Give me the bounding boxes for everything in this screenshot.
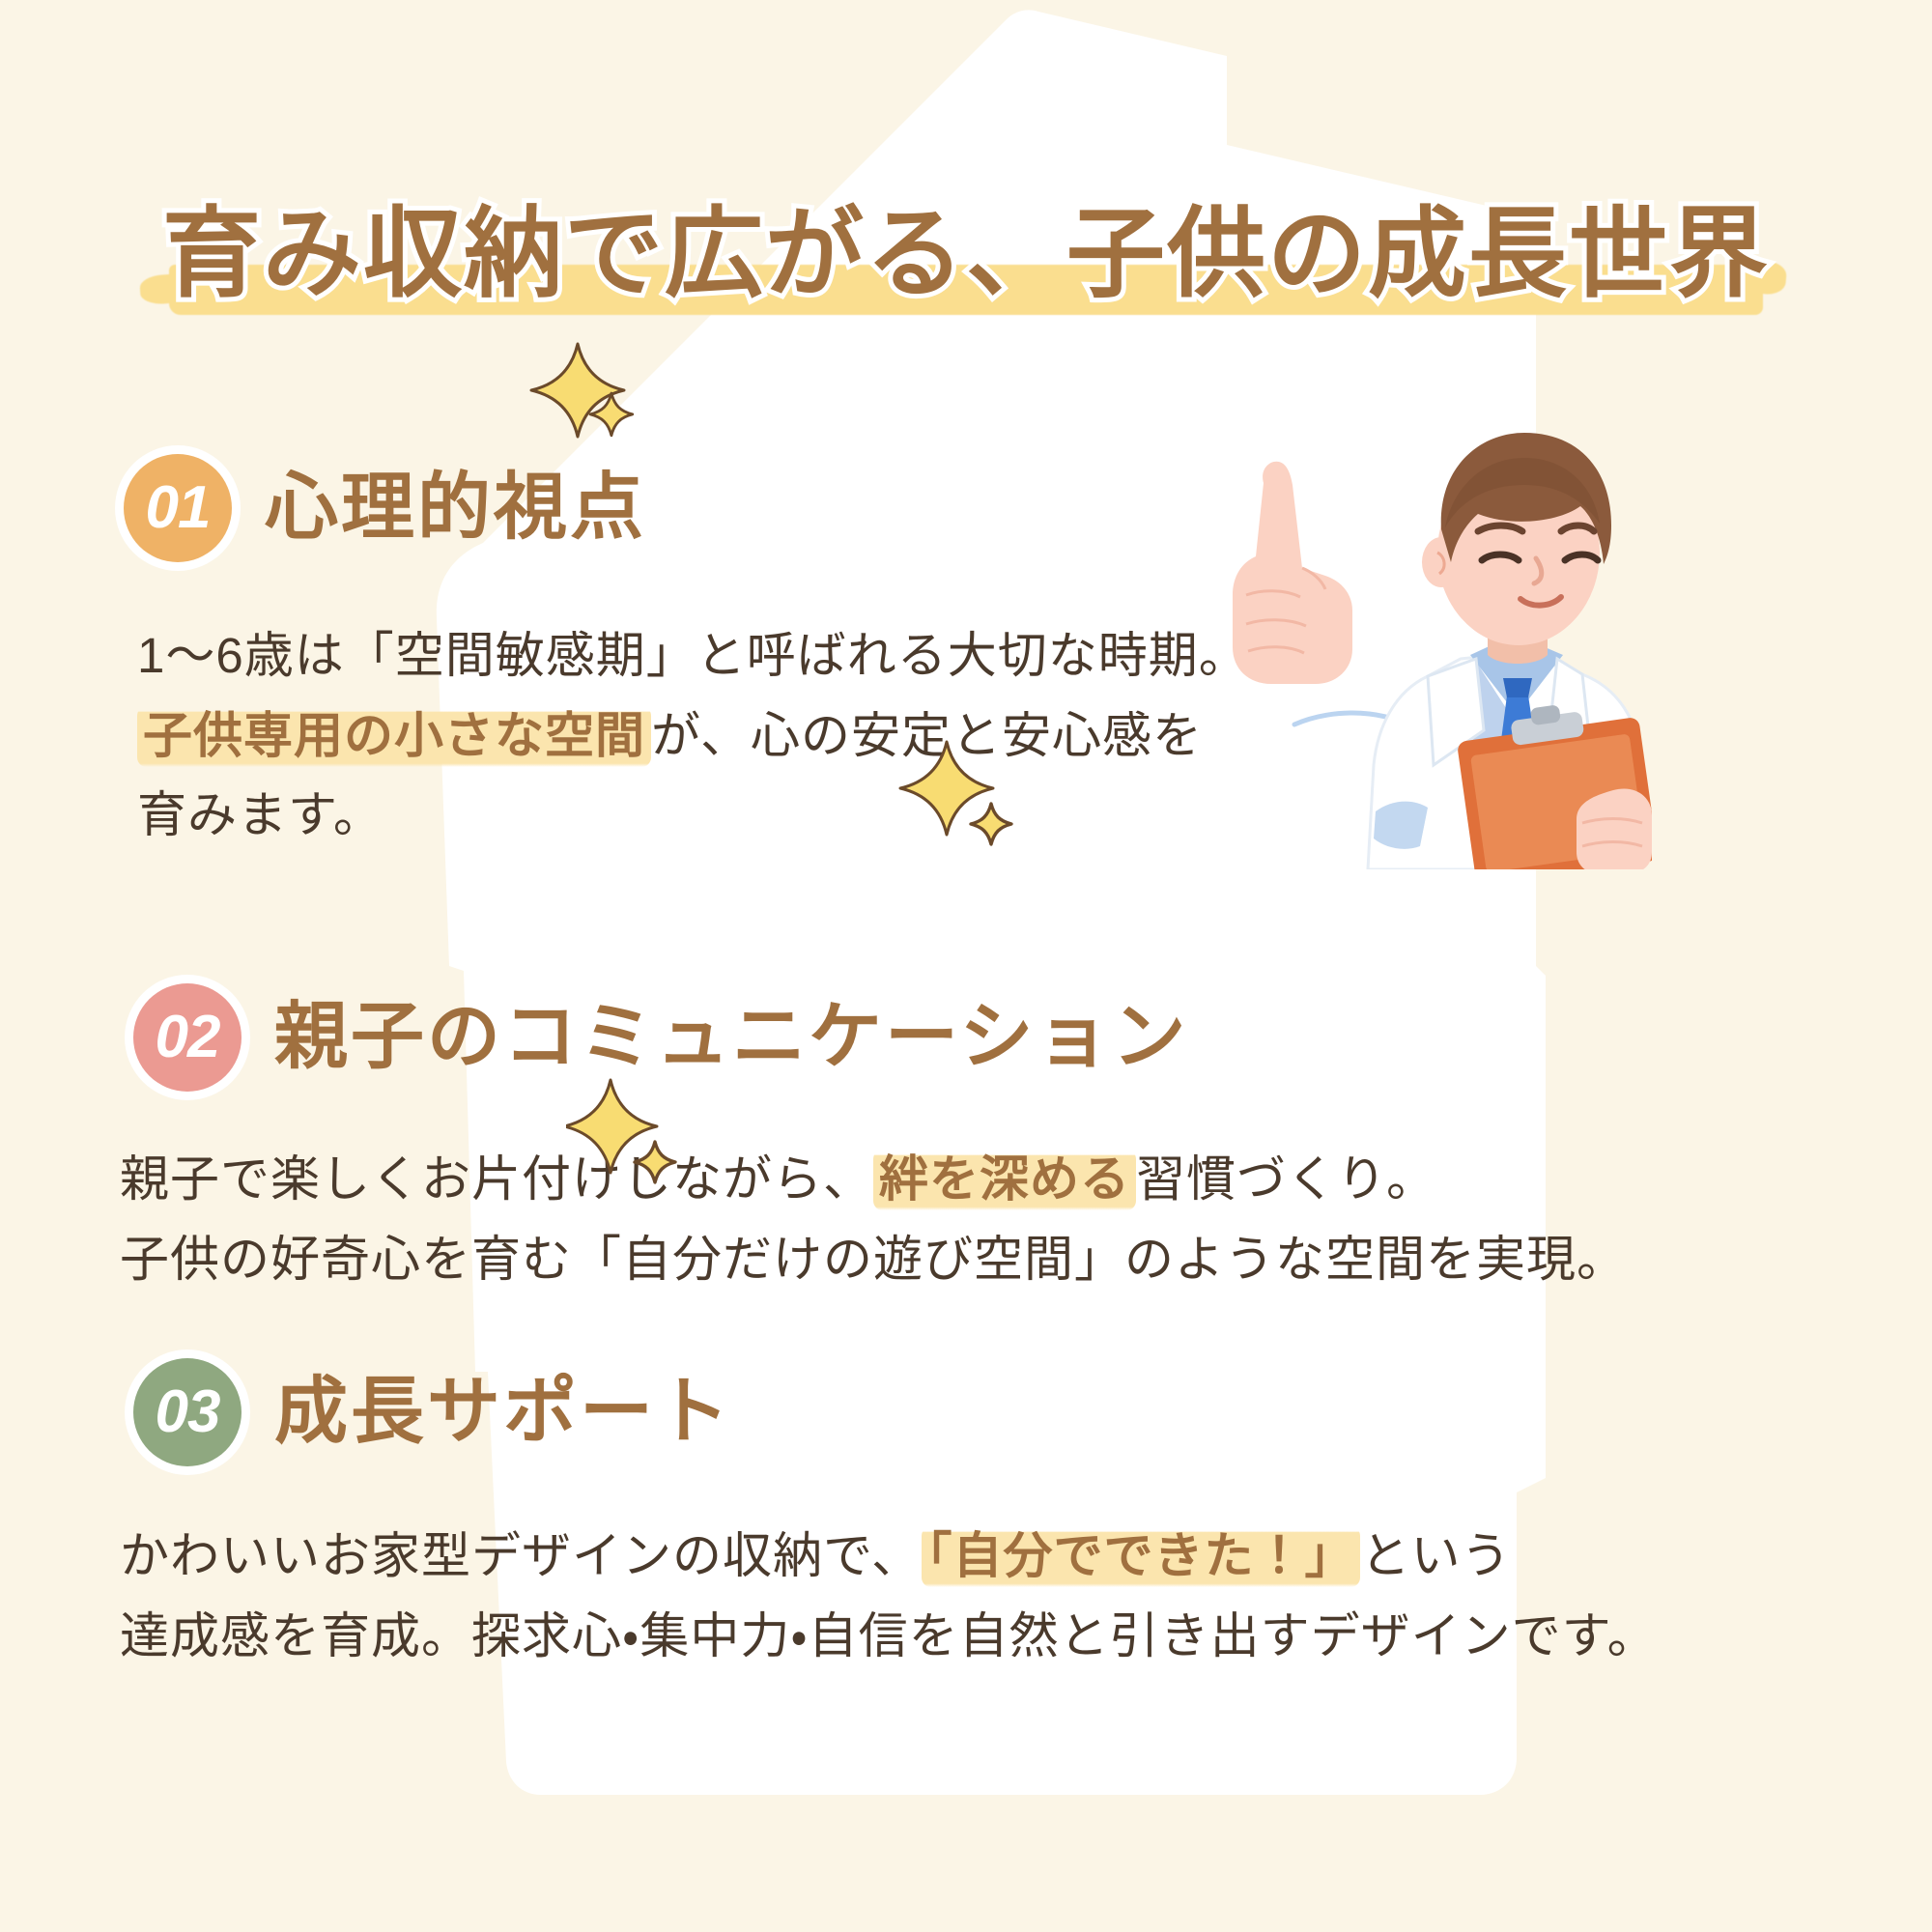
section-02-line-1: 親子で楽しくお片付けしながら、絆を深める習慣づくり。 (120, 1140, 1627, 1220)
section-01-header: 01 心理的視点 (124, 454, 1249, 562)
section-02-number: 02 (156, 1008, 220, 1067)
section-01: 01 心理的視点 1〜6歳は「空間敏感期」と呼ばれる大切な時期。 子供専用の小さ… (124, 454, 1249, 856)
section-01-badge: 01 (124, 454, 232, 562)
text-run: 育みます。 (137, 787, 384, 842)
section-02-line-2: 子供の好奇心を育む「自分だけの遊び空間」のような空間を実現。 (120, 1220, 1627, 1300)
section-03-number: 03 (156, 1382, 220, 1442)
highlight-run: 絆を深める (873, 1150, 1136, 1210)
section-03-header: 03 成長サポート (133, 1358, 1658, 1466)
section-02-header: 02 親子のコミュニケーション (133, 983, 1627, 1092)
text-run: かわいいお家型デザインの収納で、 (120, 1528, 922, 1583)
sparkle-01-icon (529, 336, 655, 462)
section-01-number: 01 (146, 478, 211, 538)
section-03-heading: 成長サポート (274, 1376, 732, 1449)
section-01-line-1: 1〜6歳は「空間敏感期」と呼ばれる大切な時期。 (137, 616, 1249, 696)
poster-root: 育み収納で広がる、子供の成長世界 01 心理的視点 1〜6歳は「空間敏感 (0, 0, 1932, 1932)
title-text: 育み収納で広がる、子供の成長世界 (162, 205, 1770, 303)
text-run: という (1360, 1528, 1511, 1583)
section-03: 03 成長サポート かわいいお家型デザインの収納で、「自分でできた！」という 達… (133, 1358, 1658, 1676)
text-run: 習慣づくり。 (1136, 1151, 1436, 1207)
section-03-line-2: 達成感を育成。探求心・集中力・自信を自然と引き出すデザインです。 (120, 1597, 1658, 1677)
highlight-run: 「自分でできた！」 (922, 1526, 1361, 1587)
poster-title: 育み収納で広がる、子供の成長世界 (0, 205, 1932, 303)
section-01-line-2: 子供専用の小さな空間が、心の安定と安心感を (137, 696, 1249, 777)
text-run: 達成感を育成。探求心・集中力・自信を自然と引き出すデザインです。 (120, 1608, 1658, 1663)
section-02-body: 親子で楽しくお片付けしながら、絆を深める習慣づくり。 子供の好奇心を育む「自分だ… (120, 1140, 1627, 1299)
text-run: 親子で楽しくお片付けしながら、 (120, 1151, 873, 1207)
highlight-run: 子供専用の小さな空間 (137, 706, 651, 767)
doctor-expert-illustration (1188, 406, 1652, 869)
text-run: 1〜6歳は「空間敏感期」と呼ばれる大切な時期。 (137, 628, 1249, 683)
section-03-line-1: かわいいお家型デザインの収納で、「自分でできた！」という (120, 1517, 1658, 1597)
section-03-body: かわいいお家型デザインの収納で、「自分でできた！」という 達成感を育成。探求心・… (120, 1517, 1658, 1676)
section-03-badge: 03 (133, 1358, 241, 1466)
sparkle-02-icon (898, 734, 1024, 860)
sparkle-03-icon (566, 1074, 692, 1200)
section-02-badge: 02 (133, 983, 241, 1092)
text-run: 子供の好奇心を育む「自分だけの遊び空間」のような空間を実現。 (120, 1232, 1627, 1287)
section-02: 02 親子のコミュニケーション 親子で楽しくお片付けしながら、絆を深める習慣づく… (133, 983, 1627, 1299)
section-01-heading: 心理的視点 (265, 471, 646, 545)
section-02-heading: 親子のコミュニケーション (274, 1001, 1188, 1074)
section-01-body: 1〜6歳は「空間敏感期」と呼ばれる大切な時期。 子供専用の小さな空間が、心の安定… (137, 616, 1249, 856)
section-01-line-3: 育みます。 (137, 776, 1249, 856)
